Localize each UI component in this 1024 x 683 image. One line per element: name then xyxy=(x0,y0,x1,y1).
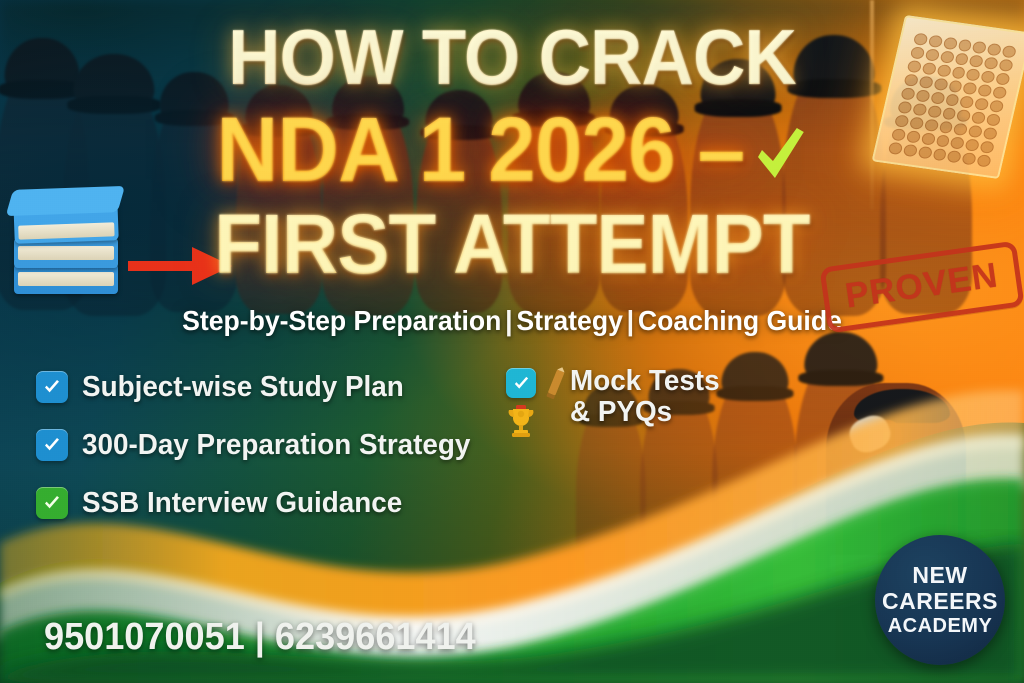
feature-label-right-line-2: & PYQs xyxy=(570,397,720,428)
headline-line-3-text: FIRST ATTEMPT xyxy=(214,206,809,283)
subtitle-separator-1: | xyxy=(501,305,516,336)
checkbox-blue-icon xyxy=(36,371,68,403)
feature-icon-group xyxy=(506,366,536,438)
checkbox-blue-icon xyxy=(36,429,68,461)
contact-phone-numbers[interactable]: 9501070051 | 6239661414 xyxy=(44,616,476,659)
logo-line-1: NEW xyxy=(912,564,967,587)
headline-line-2-text: NDA 1 2026 – xyxy=(216,108,744,193)
subtitle-separator-2: | xyxy=(623,305,638,336)
feature-label: 300-Day Preparation Strategy xyxy=(82,429,470,462)
pencil-icon xyxy=(544,365,568,401)
logo-line-2: CAREERS xyxy=(882,590,998,613)
brand-logo-badge[interactable]: NEW CAREERS ACADEMY xyxy=(875,535,1005,665)
green-check-icon xyxy=(748,112,810,197)
feature-item: 300-Day Preparation Strategy xyxy=(36,424,546,466)
checkbox-green-icon xyxy=(36,487,68,519)
feature-label: SSB Interview Guidance xyxy=(82,487,402,520)
proven-stamp-label: PROVEN xyxy=(843,256,1001,316)
feature-item: Subject-wise Study Plan xyxy=(36,366,546,408)
nda-promo-poster: HOW TO CRACK NDA 1 2026 – FIRST ATTEMPT … xyxy=(0,0,1024,683)
feature-item: SSB Interview Guidance xyxy=(36,482,546,524)
subtitle-part-2: Strategy xyxy=(516,305,622,336)
headline-line-1: HOW TO CRACK xyxy=(36,22,988,94)
feature-item: Mock Tests & PYQs xyxy=(506,366,806,438)
subtitle-part-1: Step-by-Step Preparation xyxy=(182,305,501,336)
logo-line-3: ACADEMY xyxy=(888,616,993,636)
feature-label-right: Mock Tests & PYQs xyxy=(570,366,720,429)
headline-line-1-text: HOW TO CRACK xyxy=(228,22,796,94)
headline-line-2: NDA 1 2026 – xyxy=(36,108,988,197)
feature-list: Subject-wise Study Plan 300-Day Preparat… xyxy=(36,366,546,540)
subtitle-part-3: Coaching Guide xyxy=(638,305,842,336)
checkbox-teal-icon xyxy=(506,368,536,398)
feature-label: Subject-wise Study Plan xyxy=(82,371,404,404)
feature-list-right: Mock Tests & PYQs xyxy=(506,366,806,438)
feature-label-right-line-1: Mock Tests xyxy=(570,366,720,397)
trophy-icon xyxy=(507,404,535,438)
